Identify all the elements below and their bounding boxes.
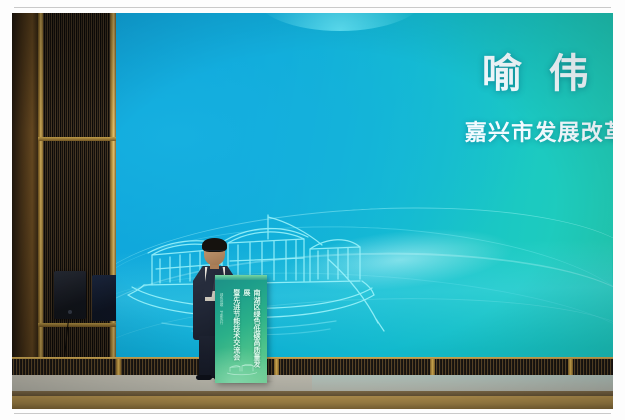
glasses-icon <box>205 250 224 255</box>
stage-floor-front-face <box>12 396 613 409</box>
screen-speaker-name: 喻 伟 <box>416 53 613 95</box>
podium-top-edge <box>215 275 267 280</box>
podium-banner-subtitle: 绿色低碳 节能先行 <box>218 293 223 353</box>
frame-rule-top <box>14 7 611 8</box>
stage-photograph: 喻 伟 嘉兴市发展改革委副主任 <box>12 13 613 409</box>
wall-shading <box>12 13 128 409</box>
podium-banner-title: 南湖区绿色低碳高质量发展 暨先进节能技术交流会 <box>220 289 262 373</box>
podium-boat-emblem <box>225 363 259 376</box>
podium: 南湖区绿色低碳高质量发展 暨先进节能技术交流会 绿色低碳 节能先行 <box>215 275 267 383</box>
screen-top-glow <box>255 13 425 31</box>
screenshot-root: 喻 伟 嘉兴市发展改革委副主任 <box>0 0 625 420</box>
wood-slat-backdrop <box>12 13 128 409</box>
frame-rule-bottom <box>14 413 611 414</box>
screen-speaker-title: 嘉兴市发展改革委副主任 <box>330 115 613 147</box>
presenter-shoe-left <box>196 375 212 380</box>
